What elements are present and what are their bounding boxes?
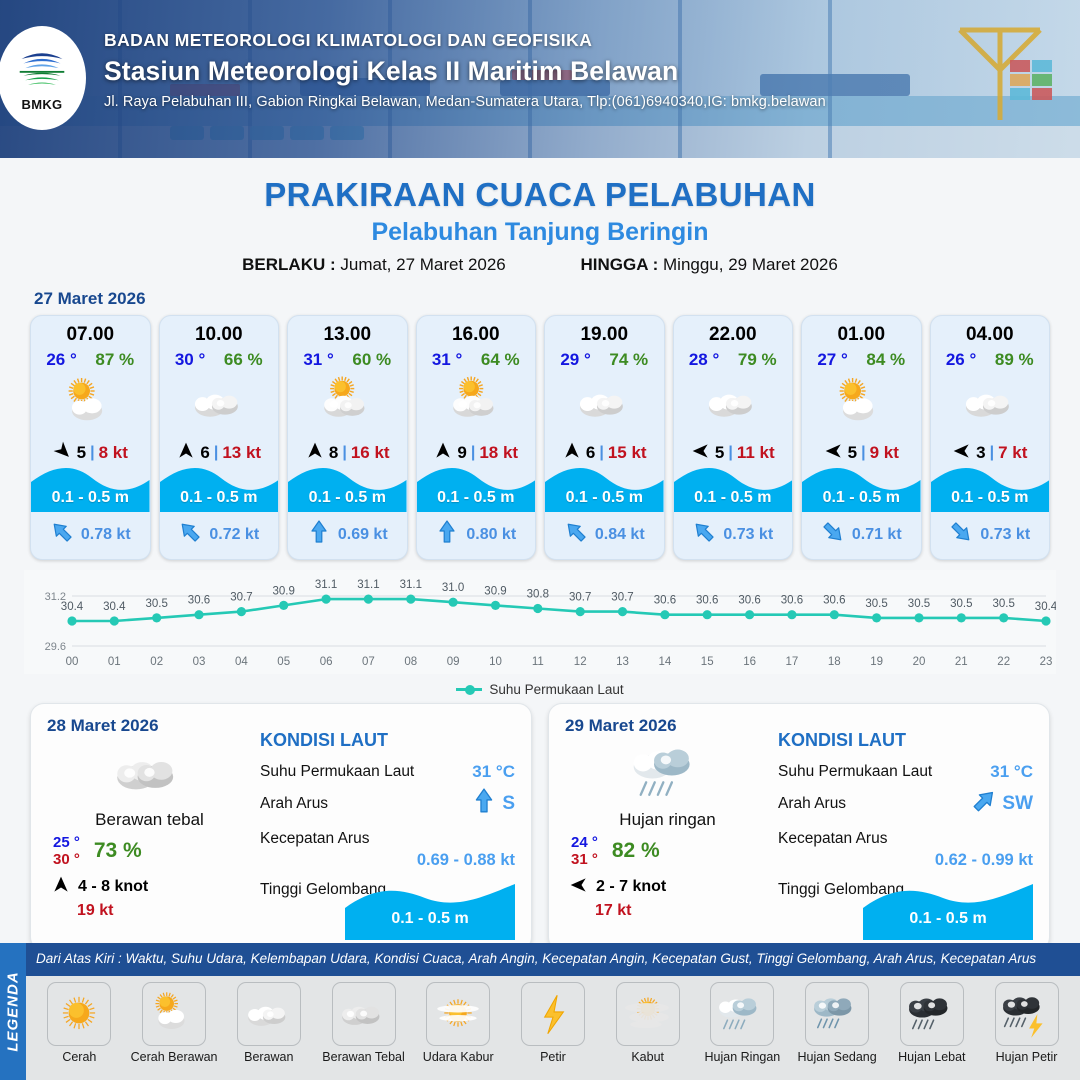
- valid-until-label: HINGGA :: [581, 255, 659, 274]
- svg-text:14: 14: [659, 656, 672, 668]
- sea-condition-title: KONDISI LAUT: [778, 730, 1033, 751]
- card-wind-speed: 8: [329, 443, 338, 463]
- svg-text:30.7: 30.7: [611, 592, 633, 604]
- svg-text:23: 23: [1040, 656, 1053, 668]
- legend-item-label: Hujan Lebat: [898, 1050, 965, 1064]
- card-gust: 9 kt: [870, 443, 899, 463]
- svg-text:30.5: 30.5: [865, 598, 887, 610]
- daily-temp-max: 30 °: [53, 851, 80, 868]
- daily-gust: 17 kt: [565, 902, 770, 920]
- card-wave-height: 0.1 - 0.5 m: [31, 489, 150, 507]
- legend-item: Hujan Ringan: [696, 982, 788, 1064]
- daily-weather-icon: [565, 738, 770, 808]
- card-current-speed: 0.78 kt: [81, 526, 131, 544]
- svg-text:30.6: 30.6: [738, 595, 760, 607]
- card-wind: 3 | 7 kt: [931, 434, 1050, 465]
- bmkg-logo-mark: [14, 44, 70, 96]
- legend-item-label: Cerah: [62, 1050, 96, 1064]
- daily-temp-min: 24 °: [571, 834, 598, 851]
- card-gust: 7 kt: [998, 443, 1027, 463]
- svg-text:15: 15: [701, 656, 714, 668]
- card-wave-height: 0.1 - 0.5 m: [288, 489, 407, 507]
- legend-item-label: Berawan Tebal: [322, 1050, 404, 1064]
- daily-temp-min: 25 °: [53, 834, 80, 851]
- wind-direction-arrow-icon: [569, 875, 589, 898]
- daily-left: 28 Maret 2026 Berawan tebal 25 ° 30 ° 73…: [47, 716, 252, 938]
- card-temperature: 27 °: [817, 350, 847, 370]
- card-time: 13.00: [288, 316, 407, 346]
- svg-text:30.8: 30.8: [527, 589, 549, 601]
- card-wave-height: 0.1 - 0.5 m: [802, 489, 921, 507]
- legend-item: Cerah: [33, 982, 125, 1064]
- card-weather-icon: [802, 372, 921, 434]
- daily-forecast-card: 29 Maret 2026 Hujan ringan 24 ° 31 °: [548, 703, 1050, 951]
- legend-item: Hujan Lebat: [886, 982, 978, 1064]
- title-section: PRAKIRAAN CUACA PELABUHAN Pelabuhan Tanj…: [0, 158, 1080, 275]
- card-humidity: 84 %: [866, 350, 905, 370]
- current-direction-arrow-icon: [178, 520, 202, 549]
- card-humidity: 79 %: [738, 350, 777, 370]
- svg-text:29.6: 29.6: [45, 641, 66, 653]
- card-current: 0.71 kt: [802, 520, 921, 549]
- svg-text:09: 09: [447, 656, 460, 668]
- legend-item: Hujan Sedang: [791, 982, 883, 1064]
- daily-temp-block: 25 ° 30 ° 73 %: [47, 834, 252, 868]
- svg-text:31.1: 31.1: [315, 579, 337, 591]
- current-direction-label: Arah Arus: [260, 795, 328, 813]
- card-current: 0.73 kt: [931, 520, 1050, 549]
- svg-text:30.5: 30.5: [908, 598, 930, 610]
- svg-text:30.6: 30.6: [781, 595, 803, 607]
- legend-icon-udara-kabur-icon: [426, 982, 490, 1046]
- hourly-card-list: 07.00 26 ° 87 % 5 | 8 kt 0.: [0, 315, 1080, 560]
- legend-item-label: Hujan Sedang: [797, 1050, 876, 1064]
- legend-item: Kabut: [602, 982, 694, 1064]
- card-wind-speed: 9: [457, 443, 466, 463]
- legend-item-label: Berawan: [244, 1050, 293, 1064]
- card-wind: 5 | 8 kt: [31, 434, 150, 465]
- sst-row: Suhu Permukaan Laut 31 °C: [260, 762, 515, 782]
- wind-separator: |: [728, 444, 732, 462]
- card-temperature: 26 °: [46, 350, 76, 370]
- svg-text:22: 22: [997, 656, 1010, 668]
- hourly-card: 22.00 28 ° 79 % 5 | 11 kt: [673, 315, 794, 560]
- card-wave-height: 0.1 - 0.5 m: [674, 489, 793, 507]
- station-address: Jl. Raya Pelabuhan III, Gabion Ringkai B…: [104, 94, 826, 110]
- daily-wind-range: 2 - 7 knot: [596, 878, 666, 896]
- card-current: 0.69 kt: [288, 520, 407, 549]
- validity-row: BERLAKU : Jumat, 27 Maret 2026 HINGGA : …: [0, 255, 1080, 275]
- card-current: 0.78 kt: [31, 520, 150, 549]
- card-wave-height: 0.1 - 0.5 m: [417, 489, 536, 507]
- card-gust: 16 kt: [351, 443, 390, 463]
- legend-icon-hujan-ringan-icon: [710, 982, 774, 1046]
- svg-text:30.5: 30.5: [993, 598, 1015, 610]
- legend-icon-cerah-icon: [47, 982, 111, 1046]
- svg-text:01: 01: [108, 656, 121, 668]
- legend-item: Berawan Tebal: [318, 982, 410, 1064]
- sst-row: Suhu Permukaan Laut 31 °C: [778, 762, 1033, 782]
- hourly-card: 16.00 31 ° 64 % 9 | 18 kt: [416, 315, 537, 560]
- valid-from-label: BERLAKU :: [242, 255, 336, 274]
- wind-separator: |: [861, 444, 865, 462]
- legend-item-label: Kabut: [631, 1050, 664, 1064]
- card-gust: 8 kt: [99, 443, 128, 463]
- station-name: Stasiun Meteorologi Kelas II Maritim Bel…: [104, 56, 826, 87]
- daily-gust: 19 kt: [47, 902, 252, 920]
- card-temperature: 30 °: [175, 350, 205, 370]
- card-temperature: 31 °: [432, 350, 462, 370]
- legend-side-label: LEGENDA: [5, 971, 22, 1051]
- legend-icon-cerah-berawan-icon: [142, 982, 206, 1046]
- svg-text:30.9: 30.9: [273, 585, 295, 597]
- card-weather-icon: [31, 372, 150, 434]
- card-wave-height: 0.1 - 0.5 m: [931, 489, 1050, 507]
- card-current: 0.84 kt: [545, 520, 664, 549]
- daily-forecast-list: 28 Maret 2026 Berawan tebal 25 ° 30 ° 73…: [0, 697, 1080, 951]
- current-direction-arrow-icon: [471, 788, 497, 819]
- svg-text:30.7: 30.7: [569, 592, 591, 604]
- legend-item-label: Cerah Berawan: [131, 1050, 218, 1064]
- card-weather-icon: [545, 372, 664, 434]
- card-humidity: 87 %: [95, 350, 134, 370]
- svg-text:31.0: 31.0: [442, 582, 464, 594]
- card-current: 0.80 kt: [417, 520, 536, 549]
- sea-condition-block: KONDISI LAUT Suhu Permukaan Laut 31 °C A…: [252, 716, 515, 938]
- card-humidity: 74 %: [609, 350, 648, 370]
- current-speed-label: Kecepatan Arus: [778, 830, 887, 848]
- svg-text:30.4: 30.4: [1035, 601, 1056, 613]
- card-time: 04.00: [931, 316, 1050, 346]
- card-gust: 18 kt: [479, 443, 518, 463]
- svg-text:30.9: 30.9: [484, 585, 506, 597]
- card-weather-icon: [931, 372, 1050, 434]
- wind-separator: |: [342, 444, 346, 462]
- card-time: 19.00: [545, 316, 664, 346]
- svg-text:21: 21: [955, 656, 968, 668]
- svg-text:11: 11: [532, 656, 544, 668]
- agency-name: BADAN METEOROLOGI KLIMATOLOGI DAN GEOFIS…: [104, 30, 826, 51]
- hourly-card: 04.00 26 ° 89 % 3 | 7 kt: [930, 315, 1051, 560]
- card-gust: 15 kt: [608, 443, 647, 463]
- card-wind-speed: 5: [848, 443, 857, 463]
- card-wave-height: 0.1 - 0.5 m: [545, 489, 664, 507]
- svg-text:30.7: 30.7: [230, 592, 252, 604]
- svg-text:30.5: 30.5: [146, 598, 168, 610]
- svg-text:12: 12: [574, 656, 587, 668]
- daily-left: 29 Maret 2026 Hujan ringan 24 ° 31 °: [565, 716, 770, 938]
- wind-direction-arrow-icon: [51, 875, 71, 898]
- legend-icon-hujan-petir-icon: [995, 982, 1059, 1046]
- current-direction-arrow-icon: [949, 520, 973, 549]
- current-direction-value: SW: [1002, 793, 1033, 815]
- card-temperature: 28 °: [689, 350, 719, 370]
- daily-temp-max: 31 °: [571, 851, 598, 868]
- card-current: 0.72 kt: [160, 520, 279, 549]
- daily-weather-icon: [47, 738, 252, 808]
- hourly-date: 27 Maret 2026: [34, 289, 1080, 309]
- wind-separator: |: [599, 444, 603, 462]
- sst-label: Suhu Permukaan Laut: [260, 763, 414, 781]
- legend-item-label: Hujan Petir: [996, 1050, 1058, 1064]
- svg-text:10: 10: [489, 656, 502, 668]
- legend-icon-hujan-sedang-icon: [805, 982, 869, 1046]
- card-wind: 6 | 15 kt: [545, 434, 664, 465]
- card-weather-icon: [417, 372, 536, 434]
- card-humidity: 64 %: [481, 350, 520, 370]
- current-direction-row: Arah Arus SW: [778, 788, 1033, 819]
- sst-chart: 31.229.630.430.430.530.630.730.931.131.1…: [24, 570, 1056, 680]
- daily-wind: 2 - 7 knot: [565, 875, 770, 898]
- current-speed-row: Kecepatan Arus: [260, 830, 515, 848]
- svg-text:30.6: 30.6: [696, 595, 718, 607]
- sea-condition-block: KONDISI LAUT Suhu Permukaan Laut 31 °C A…: [770, 716, 1033, 938]
- legend-item: Cerah Berawan: [128, 982, 220, 1064]
- legend-item: Hujan Petir: [981, 982, 1073, 1064]
- wind-separator: |: [471, 444, 475, 462]
- current-speed-label: Kecepatan Arus: [260, 830, 369, 848]
- daily-humidity: 82 %: [612, 839, 660, 863]
- legend-item-label: Petir: [540, 1050, 566, 1064]
- svg-text:30.6: 30.6: [188, 595, 210, 607]
- legend-item: Udara Kabur: [412, 982, 504, 1064]
- sst-label: Suhu Permukaan Laut: [778, 763, 932, 781]
- current-speed-value: 0.62 - 0.99 kt: [778, 851, 1033, 870]
- card-current-speed: 0.73 kt: [723, 526, 773, 544]
- card-current-speed: 0.72 kt: [209, 526, 259, 544]
- card-humidity: 60 %: [352, 350, 391, 370]
- card-current: 0.73 kt: [674, 520, 793, 549]
- svg-text:08: 08: [404, 656, 417, 668]
- card-humidity: 66 %: [224, 350, 263, 370]
- card-weather-icon: [160, 372, 279, 434]
- svg-text:18: 18: [828, 656, 841, 668]
- current-direction-arrow-icon: [692, 520, 716, 549]
- hourly-card: 07.00 26 ° 87 % 5 | 8 kt 0.: [30, 315, 151, 560]
- daily-date: 29 Maret 2026: [565, 716, 770, 736]
- wind-separator: |: [90, 444, 94, 462]
- valid-until-value: Minggu, 29 Maret 2026: [663, 255, 838, 274]
- daily-temp-block: 24 ° 31 ° 82 %: [565, 834, 770, 868]
- card-temperature: 31 °: [303, 350, 333, 370]
- legend-item: Petir: [507, 982, 599, 1064]
- hourly-card: 13.00 31 ° 60 % 8 | 16 kt: [287, 315, 408, 560]
- hourly-card: 10.00 30 ° 66 % 6 | 13 kt: [159, 315, 280, 560]
- card-time: 10.00: [160, 316, 279, 346]
- card-wind: 8 | 16 kt: [288, 434, 407, 465]
- current-direction-row: Arah Arus S: [260, 788, 515, 819]
- daily-wind-range: 4 - 8 knot: [78, 878, 148, 896]
- daily-wave-graphic: 0.1 - 0.5 m: [863, 878, 1033, 940]
- card-time: 07.00: [31, 316, 150, 346]
- card-wind-speed: 6: [200, 443, 209, 463]
- svg-text:07: 07: [362, 656, 375, 668]
- card-weather-icon: [674, 372, 793, 434]
- current-direction-arrow-icon: [50, 520, 74, 549]
- current-direction-arrow-icon: [821, 520, 845, 549]
- current-direction-value: S: [502, 793, 515, 815]
- legend-note: Dari Atas Kiri : Waktu, Suhu Udara, Kele…: [36, 951, 1036, 966]
- svg-text:13: 13: [616, 656, 629, 668]
- current-direction-arrow-icon: [307, 520, 331, 549]
- chart-legend-marker: [456, 688, 482, 691]
- legend-bar: LEGENDA Dari Atas Kiri : Waktu, Suhu Uda…: [0, 943, 1080, 1080]
- sst-value: 31 °C: [990, 762, 1033, 782]
- current-speed-value: 0.69 - 0.88 kt: [260, 851, 515, 870]
- legend-icon-hujan-lebat-icon: [900, 982, 964, 1046]
- card-weather-icon: [288, 372, 407, 434]
- svg-text:17: 17: [786, 656, 799, 668]
- card-current-speed: 0.71 kt: [852, 526, 902, 544]
- card-wind-speed: 6: [586, 443, 595, 463]
- page-header: BMKG BADAN METEOROLOGI KLIMATOLOGI DAN G…: [0, 0, 1080, 158]
- svg-text:19: 19: [870, 656, 883, 668]
- chart-legend-label: Suhu Permukaan Laut: [489, 682, 623, 697]
- current-speed-row: Kecepatan Arus: [778, 830, 1033, 848]
- card-current-speed: 0.84 kt: [595, 526, 645, 544]
- sst-value: 31 °C: [472, 762, 515, 782]
- hourly-card: 01.00 27 ° 84 % 5 | 9 kt 0.: [801, 315, 922, 560]
- card-wind-speed: 3: [976, 443, 985, 463]
- daily-wind: 4 - 8 knot: [47, 875, 252, 898]
- current-direction-arrow-icon: [971, 788, 997, 819]
- wind-separator: |: [214, 444, 218, 462]
- card-wind-speed: 5: [77, 443, 86, 463]
- daily-wave-value: 0.1 - 0.5 m: [863, 910, 1033, 928]
- current-direction-arrow-icon: [435, 520, 459, 549]
- card-current-speed: 0.69 kt: [338, 526, 388, 544]
- card-wave-height: 0.1 - 0.5 m: [160, 489, 279, 507]
- valid-from-value: Jumat, 27 Maret 2026: [340, 255, 505, 274]
- daily-condition: Hujan ringan: [565, 810, 770, 830]
- svg-text:30.5: 30.5: [950, 598, 972, 610]
- card-wind: 6 | 13 kt: [160, 434, 279, 465]
- card-wind: 5 | 9 kt: [802, 434, 921, 465]
- card-gust: 13 kt: [222, 443, 261, 463]
- svg-text:03: 03: [193, 656, 206, 668]
- svg-text:04: 04: [235, 656, 248, 668]
- card-temperature: 29 °: [560, 350, 590, 370]
- legend-icon-berawan-tebal-icon: [332, 982, 396, 1046]
- svg-text:30.6: 30.6: [654, 595, 676, 607]
- daily-condition: Berawan tebal: [47, 810, 252, 830]
- card-gust: 11 kt: [737, 443, 775, 463]
- legend-icon-berawan-icon: [237, 982, 301, 1046]
- page-subtitle: Pelabuhan Tanjung Beringin: [0, 218, 1080, 247]
- svg-text:06: 06: [320, 656, 333, 668]
- svg-text:30.4: 30.4: [103, 601, 126, 613]
- card-wind: 5 | 11 kt: [674, 434, 793, 465]
- daily-forecast-card: 28 Maret 2026 Berawan tebal 25 ° 30 ° 73…: [30, 703, 532, 951]
- svg-text:31.1: 31.1: [357, 579, 379, 591]
- legend-icon-petir-icon: [521, 982, 585, 1046]
- svg-text:02: 02: [150, 656, 163, 668]
- legend-icon-kabut-icon: [616, 982, 680, 1046]
- svg-text:30.6: 30.6: [823, 595, 845, 607]
- legend-icon-list: Cerah Cerah Berawan Berawan: [26, 976, 1080, 1080]
- svg-text:16: 16: [743, 656, 756, 668]
- card-time: 16.00: [417, 316, 536, 346]
- header-text-block: BADAN METEOROLOGI KLIMATOLOGI DAN GEOFIS…: [104, 30, 826, 110]
- wind-separator: |: [990, 444, 994, 462]
- page-title: PRAKIRAAN CUACA PELABUHAN: [0, 176, 1080, 214]
- svg-text:20: 20: [913, 656, 926, 668]
- chart-legend: Suhu Permukaan Laut: [0, 682, 1080, 697]
- card-wind-speed: 5: [715, 443, 724, 463]
- daily-humidity: 73 %: [94, 839, 142, 863]
- svg-text:00: 00: [66, 656, 79, 668]
- daily-date: 28 Maret 2026: [47, 716, 252, 736]
- current-direction-arrow-icon: [564, 520, 588, 549]
- bmkg-logo: BMKG: [0, 26, 86, 130]
- svg-text:31.1: 31.1: [400, 579, 422, 591]
- current-direction-label: Arah Arus: [778, 795, 846, 813]
- svg-text:30.4: 30.4: [61, 601, 84, 613]
- sea-condition-title: KONDISI LAUT: [260, 730, 515, 751]
- card-current-speed: 0.73 kt: [980, 526, 1030, 544]
- legend-item: Berawan: [223, 982, 315, 1064]
- card-humidity: 89 %: [995, 350, 1034, 370]
- legend-item-label: Udara Kabur: [423, 1050, 494, 1064]
- daily-wave-value: 0.1 - 0.5 m: [345, 910, 515, 928]
- card-time: 01.00: [802, 316, 921, 346]
- bmkg-logo-text: BMKG: [22, 97, 63, 112]
- hourly-card: 19.00 29 ° 74 % 6 | 15 kt: [544, 315, 665, 560]
- sst-chart-svg: 31.229.630.430.430.530.630.730.931.131.1…: [24, 570, 1056, 674]
- legend-side-tab: LEGENDA: [0, 943, 26, 1080]
- legend-item-label: Hujan Ringan: [705, 1050, 781, 1064]
- svg-text:05: 05: [277, 656, 290, 668]
- card-current-speed: 0.80 kt: [466, 526, 516, 544]
- card-temperature: 26 °: [946, 350, 976, 370]
- card-time: 22.00: [674, 316, 793, 346]
- card-wind: 9 | 18 kt: [417, 434, 536, 465]
- daily-wave-graphic: 0.1 - 0.5 m: [345, 878, 515, 940]
